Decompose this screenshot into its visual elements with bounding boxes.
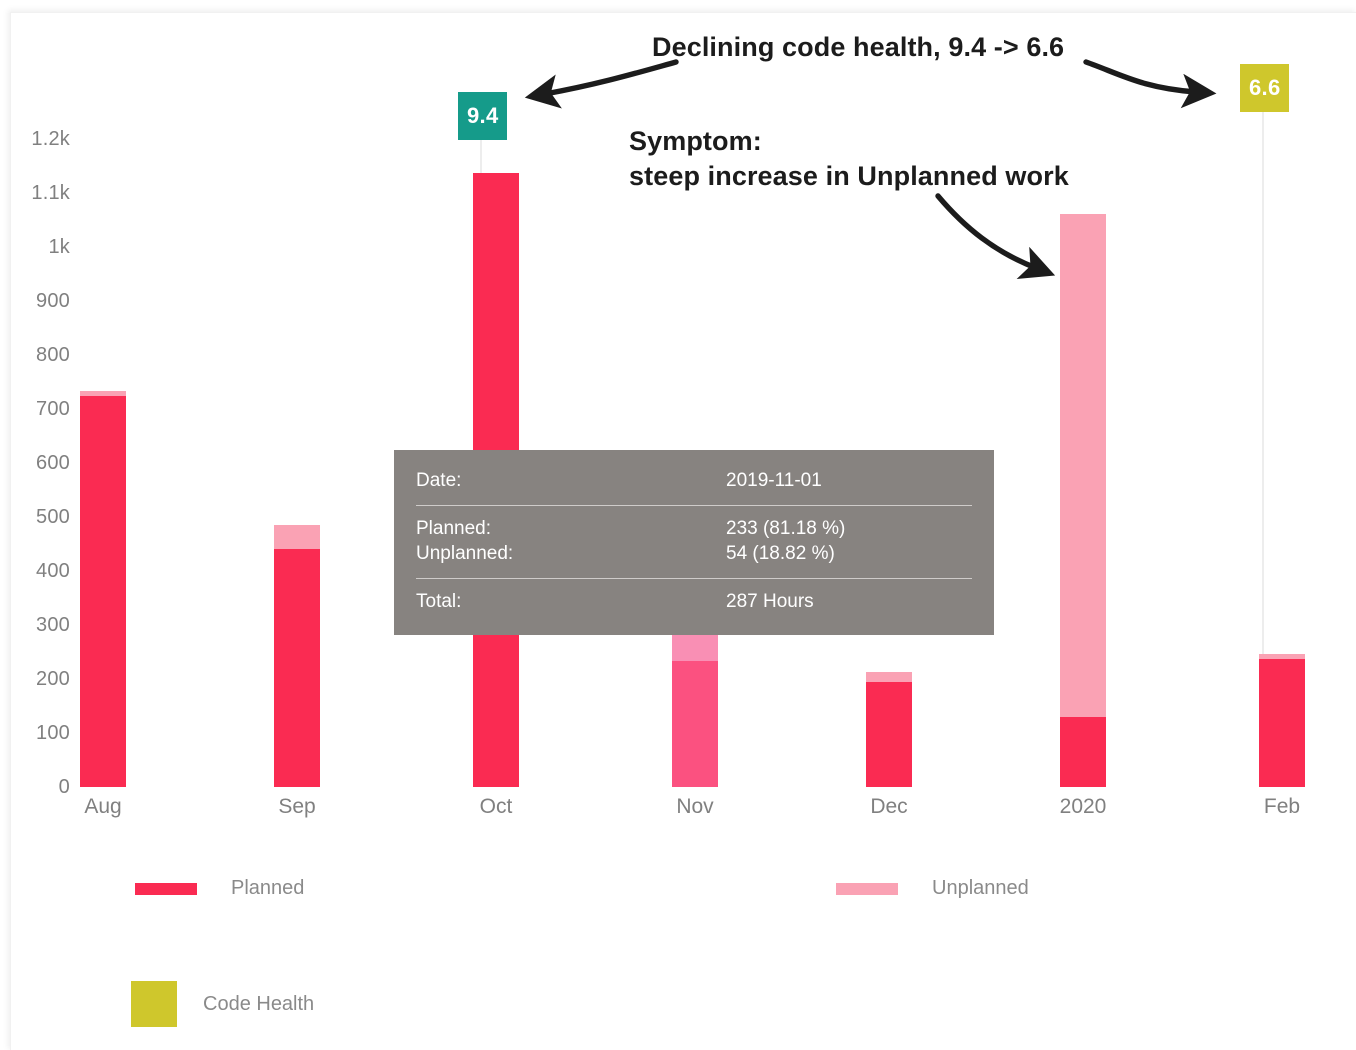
legend-label-unplanned: Unplanned: [932, 877, 1029, 900]
bar-segment-planned-feb[interactable]: [1259, 659, 1305, 787]
y-axis-tick-1.1k: 1.1k: [0, 183, 70, 203]
y-axis-tick-200: 200: [0, 669, 70, 689]
legend-item-code-health[interactable]: Code Health: [131, 981, 314, 1027]
bar-segment-planned-nov[interactable]: [672, 661, 718, 787]
legend-item-planned[interactable]: Planned: [135, 877, 304, 900]
tooltip-value-date: 2019-11-01: [726, 468, 972, 494]
y-axis-tick-100: 100: [0, 723, 70, 743]
bar-feb[interactable]: [1259, 654, 1305, 787]
x-axis-tick-oct: Oct: [416, 787, 576, 817]
code-health-badge-feb[interactable]: 6.6: [1240, 64, 1289, 112]
tooltip-key-date: Date:: [416, 468, 726, 494]
y-axis-tick-1.2k: 1.2k: [0, 129, 70, 149]
x-axis-tick-2020: 2020: [1003, 787, 1163, 817]
series-tooltip: Date: 2019-11-01 Planned: 233 (81.18 %) …: [394, 450, 994, 635]
bar-segment-unplanned-sep[interactable]: [274, 525, 320, 549]
tooltip-divider-bottom: [416, 578, 972, 579]
tooltip-row-unplanned: Unplanned: 54 (18.82 %): [416, 541, 972, 567]
tooltip-key-total: Total:: [416, 589, 726, 615]
x-axis-tick-aug: Aug: [23, 787, 183, 817]
y-axis-tick-900: 900: [0, 291, 70, 311]
legend-item-unplanned[interactable]: Unplanned: [836, 877, 1029, 900]
y-axis-tick-400: 400: [0, 561, 70, 581]
legend-label-code-health: Code Health: [203, 993, 314, 1016]
bar-segment-planned-sep[interactable]: [274, 549, 320, 787]
bar-aug[interactable]: [80, 391, 126, 787]
tooltip-key-unplanned: Unplanned:: [416, 541, 726, 567]
bar-nov[interactable]: [672, 632, 718, 787]
bar-dec[interactable]: [866, 672, 912, 787]
tooltip-divider-top: [416, 505, 972, 506]
bar-2020[interactable]: [1060, 214, 1106, 787]
tooltip-value-total: 287 Hours: [726, 589, 972, 615]
legend-swatch-unplanned: [836, 883, 898, 895]
bar-segment-unplanned-nov[interactable]: [672, 632, 718, 661]
code-health-badge-oct[interactable]: 9.4: [458, 92, 507, 140]
bar-segment-unplanned-2020[interactable]: [1060, 214, 1106, 717]
chart-screenshot: 1.2k1.1k1k9008007006005004003002001000 A…: [0, 0, 1356, 1050]
tooltip-row-date: Date: 2019-11-01: [416, 468, 972, 494]
tooltip-key-planned: Planned:: [416, 516, 726, 542]
bar-segment-unplanned-dec[interactable]: [866, 672, 912, 682]
x-axis-tick-sep: Sep: [217, 787, 377, 817]
y-axis-tick-1k: 1k: [0, 237, 70, 257]
unplanned-annotation: Symptom: steep increase in Unplanned wor…: [629, 124, 1069, 194]
x-axis-tick-dec: Dec: [809, 787, 969, 817]
bar-segment-planned-2020[interactable]: [1060, 717, 1106, 787]
y-axis-tick-500: 500: [0, 507, 70, 527]
legend-swatch-code-health: [131, 981, 177, 1027]
tooltip-row-planned: Planned: 233 (81.18 %): [416, 516, 972, 542]
tooltip-value-planned: 233 (81.18 %): [726, 516, 972, 542]
y-axis-tick-700: 700: [0, 399, 70, 419]
tooltip-value-unplanned: 54 (18.82 %): [726, 541, 972, 567]
bar-sep[interactable]: [274, 525, 320, 787]
y-axis-tick-300: 300: [0, 615, 70, 635]
legend-swatch-planned: [135, 883, 197, 895]
y-axis-tick-800: 800: [0, 345, 70, 365]
x-axis-tick-nov: Nov: [615, 787, 775, 817]
legend-label-planned: Planned: [231, 877, 304, 900]
tooltip-row-total: Total: 287 Hours: [416, 589, 972, 615]
bar-segment-planned-dec[interactable]: [866, 682, 912, 787]
y-axis-tick-600: 600: [0, 453, 70, 473]
x-axis-tick-feb: Feb: [1202, 787, 1356, 817]
code-health-annotation: Declining code health, 9.4 -> 6.6: [652, 30, 1064, 65]
bar-segment-planned-aug[interactable]: [80, 396, 126, 787]
